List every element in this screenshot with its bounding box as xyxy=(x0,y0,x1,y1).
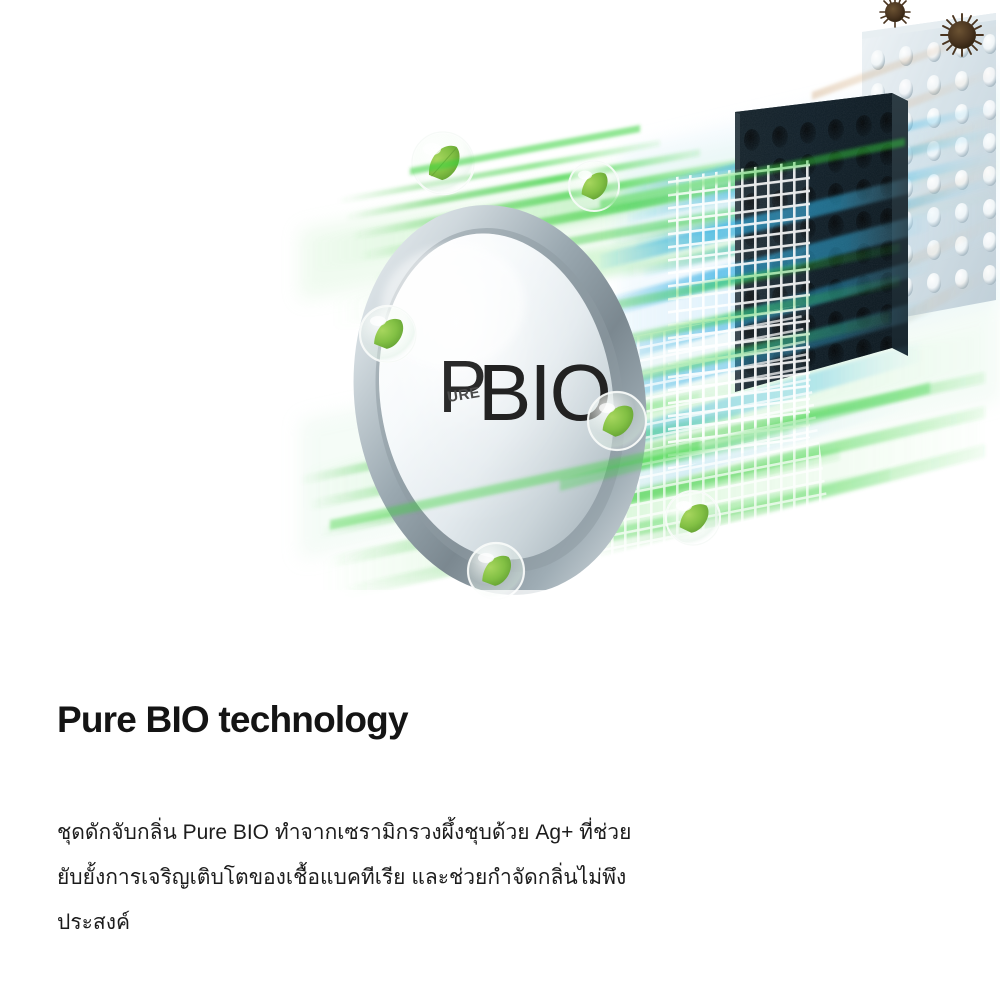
paragraph-line-1: ชุดดักจับกลิ่น Pure BIO ทำจากเซรามิกรวงผ… xyxy=(57,810,717,855)
body-paragraph: ชุดดักจับกลิ่น Pure BIO ทำจากเซรามิกรวงผ… xyxy=(57,810,717,945)
pure-bio-diagram: P URE BIO xyxy=(0,0,1000,670)
hero-illustration: P URE BIO xyxy=(0,0,1000,670)
pure-bio-logo: P URE BIO xyxy=(438,345,610,437)
particle-large xyxy=(941,14,983,56)
leaf-bubble xyxy=(360,306,416,362)
paragraph-line-2: ยับยั้งการเจริญเติบโตของเชื้อแบคทีเรีย แ… xyxy=(57,855,717,900)
leaf-bubble xyxy=(588,392,646,450)
content-section: Pure BIO technology ชุดดักจับกลิ่น Pure … xyxy=(0,670,1000,1000)
paragraph-line-3: ประสงค์ xyxy=(57,900,717,945)
page-title: Pure BIO technology xyxy=(57,700,408,741)
leaf-bubble xyxy=(666,491,720,545)
